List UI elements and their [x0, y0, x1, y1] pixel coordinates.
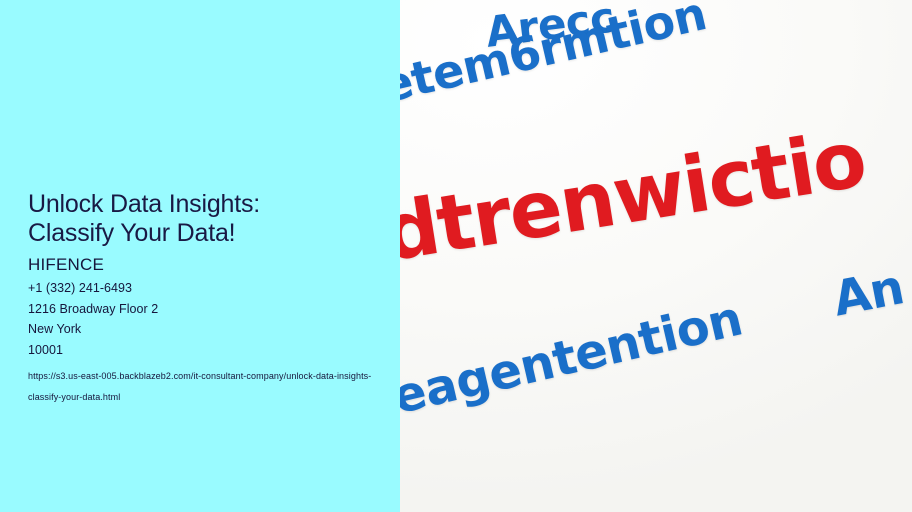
address-city: New York: [28, 319, 378, 340]
company-name: HIFENCE: [28, 254, 378, 276]
address-street: 1216 Broadway Floor 2: [28, 299, 378, 320]
source-url-link[interactable]: https://s3.us-east-005.backblazeb2.com/i…: [28, 366, 373, 408]
address-postal-code: 10001: [28, 340, 378, 361]
visual-panel: Arecc etem6rmtion dtrenwictio eagententi…: [400, 0, 912, 512]
phone-number[interactable]: +1 (332) 241-6493: [28, 278, 378, 299]
info-content: Unlock Data Insights: Classify Your Data…: [28, 190, 378, 408]
promo-card: Unlock Data Insights: Classify Your Data…: [0, 0, 912, 512]
page-title: Unlock Data Insights: Classify Your Data…: [28, 190, 378, 248]
info-panel: Unlock Data Insights: Classify Your Data…: [0, 0, 400, 512]
